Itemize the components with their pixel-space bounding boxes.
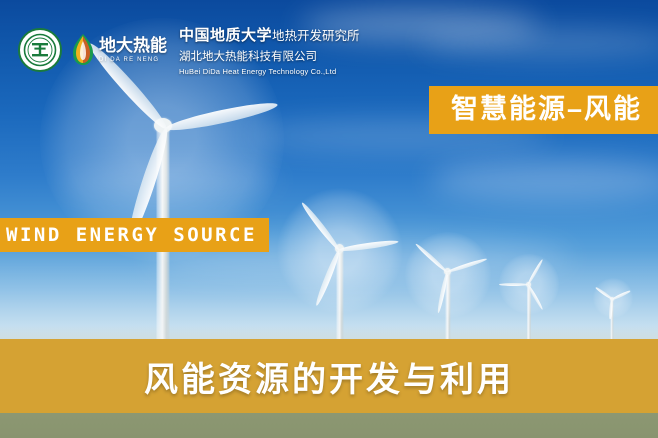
org-university-name: 中国地质大学 [179, 27, 272, 44]
brand-name-cn: 地大热能 [99, 37, 167, 54]
didaneng-flame-icon [70, 33, 96, 67]
turbine-blade [165, 98, 279, 134]
bottom-title-bar: 风能资源的开发与利用 [0, 339, 658, 413]
cloud-wisp-2 [420, 30, 658, 56]
wind-energy-poster: 地大热能 DI DA RE NENG 中国地质大学地热开发研究所 湖北地大热能科… [0, 0, 658, 438]
organization-text: 中国地质大学地热开发研究所 湖北地大热能科技有限公司 HuBei DiDa He… [179, 24, 360, 76]
bottom-title-label: 风能资源的开发与利用 [144, 352, 514, 401]
org-institute-name: 地热开发研究所 [272, 29, 360, 43]
ribbon-top-right-label: 智慧能源–风能 [451, 95, 642, 125]
org-line-3: HuBei DiDa Heat Energy Technology Co.,Lt… [179, 67, 360, 76]
ribbon-wind-energy-source: WIND ENERGY SOURCE [0, 218, 269, 252]
ribbon-smart-energy-wind: 智慧能源–风能 [429, 86, 658, 134]
org-line-2: 湖北地大热能科技有限公司 [179, 48, 360, 64]
ribbon-left-label: WIND ENERGY SOURCE [6, 224, 257, 246]
cloud-wisp-5 [430, 160, 658, 200]
brand-name-en: DI DA RE NENG [99, 57, 167, 63]
org-line-1: 中国地质大学地热开发研究所 [179, 24, 360, 45]
logo-block: 地大热能 DI DA RE NENG 中国地质大学地热开发研究所 湖北地大热能科… [18, 24, 360, 76]
didaneng-logo: 地大热能 DI DA RE NENG [70, 33, 167, 67]
wind-turbine-foreground [38, 56, 288, 360]
university-seal-icon [18, 28, 62, 72]
